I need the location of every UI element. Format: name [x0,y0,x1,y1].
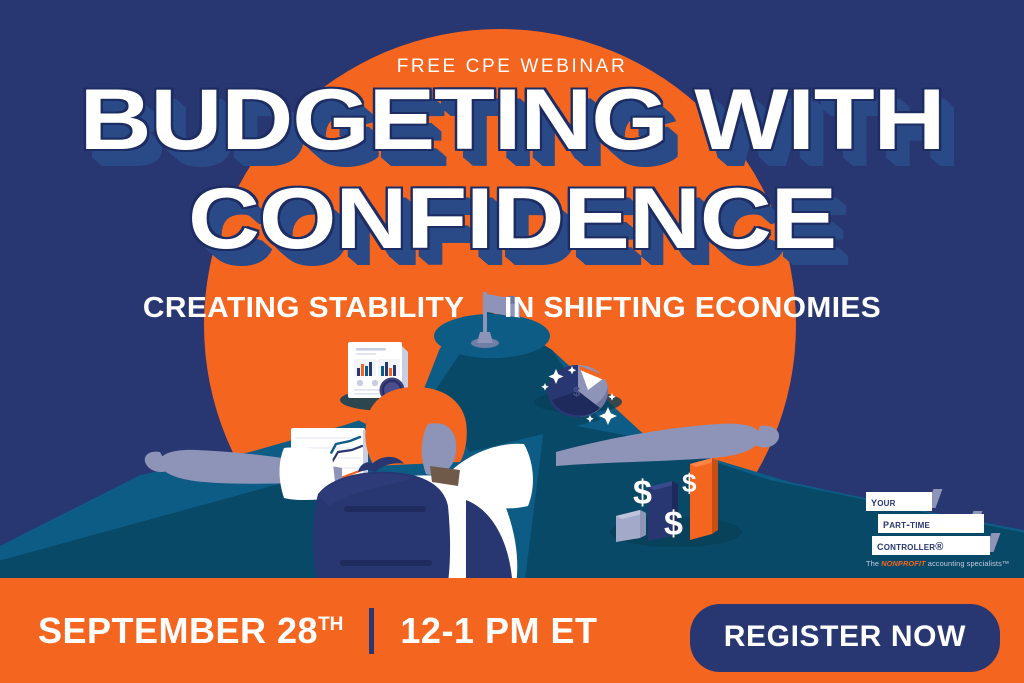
backpack-strap [344,506,426,512]
subtitle-part-1: CREATING STABILITY [143,292,464,324]
event-date-suffix: TH [318,614,343,635]
svg-text:$: $ [573,384,581,399]
svg-text:$: $ [682,468,697,498]
logo-box-1: YOUR [866,492,932,511]
footer-divider [369,608,374,654]
logo-row-1: YOUR [866,492,998,511]
logo-text-part-time: PART-TIME [883,517,930,531]
logo-box-2: PART-TIME [878,514,984,533]
logo-text-your: YOUR [871,495,896,509]
footer-date-time: SEPTEMBER 28TH 12-1 PM ET [38,608,597,654]
event-date: SEPTEMBER 28TH [38,610,343,652]
event-date-text: SEPTEMBER 28 [38,610,318,651]
webinar-poster: $ [0,0,1024,683]
svg-text:$: $ [633,474,652,512]
subtitle: CREATING STABILITY IN SHIFTING ECONOMIES [0,292,1024,325]
logo-tagline-emphasis: NONPROFIT [881,559,925,568]
eyebrow-text: FREE CPE WEBINAR [0,56,1024,78]
company-logo: YOUR PART-TIME CONTROLLER® The NONPROFIT… [866,492,998,568]
logo-tagline-prefix: The [866,559,881,568]
logo-row-2: PART-TIME [866,514,998,533]
logo-row-3: CONTROLLER® [866,536,998,555]
register-now-button[interactable]: REGISTER NOW [690,604,1000,672]
logo-text-controller: CONTROLLER® [877,539,944,553]
svg-text:$: $ [664,505,683,543]
logo-box-3: CONTROLLER® [872,536,990,555]
event-time: 12-1 PM ET [400,610,597,652]
backpack-strap-2 [340,560,432,566]
logo-tagline-suffix: accounting specialists™ [926,559,1010,568]
footer-bar: SEPTEMBER 28TH 12-1 PM ET REGISTER NOW [0,578,1024,683]
logo-tagline: The NONPROFIT accounting specialists™ [866,559,998,568]
subtitle-part-2: IN SHIFTING ECONOMIES [504,292,881,324]
